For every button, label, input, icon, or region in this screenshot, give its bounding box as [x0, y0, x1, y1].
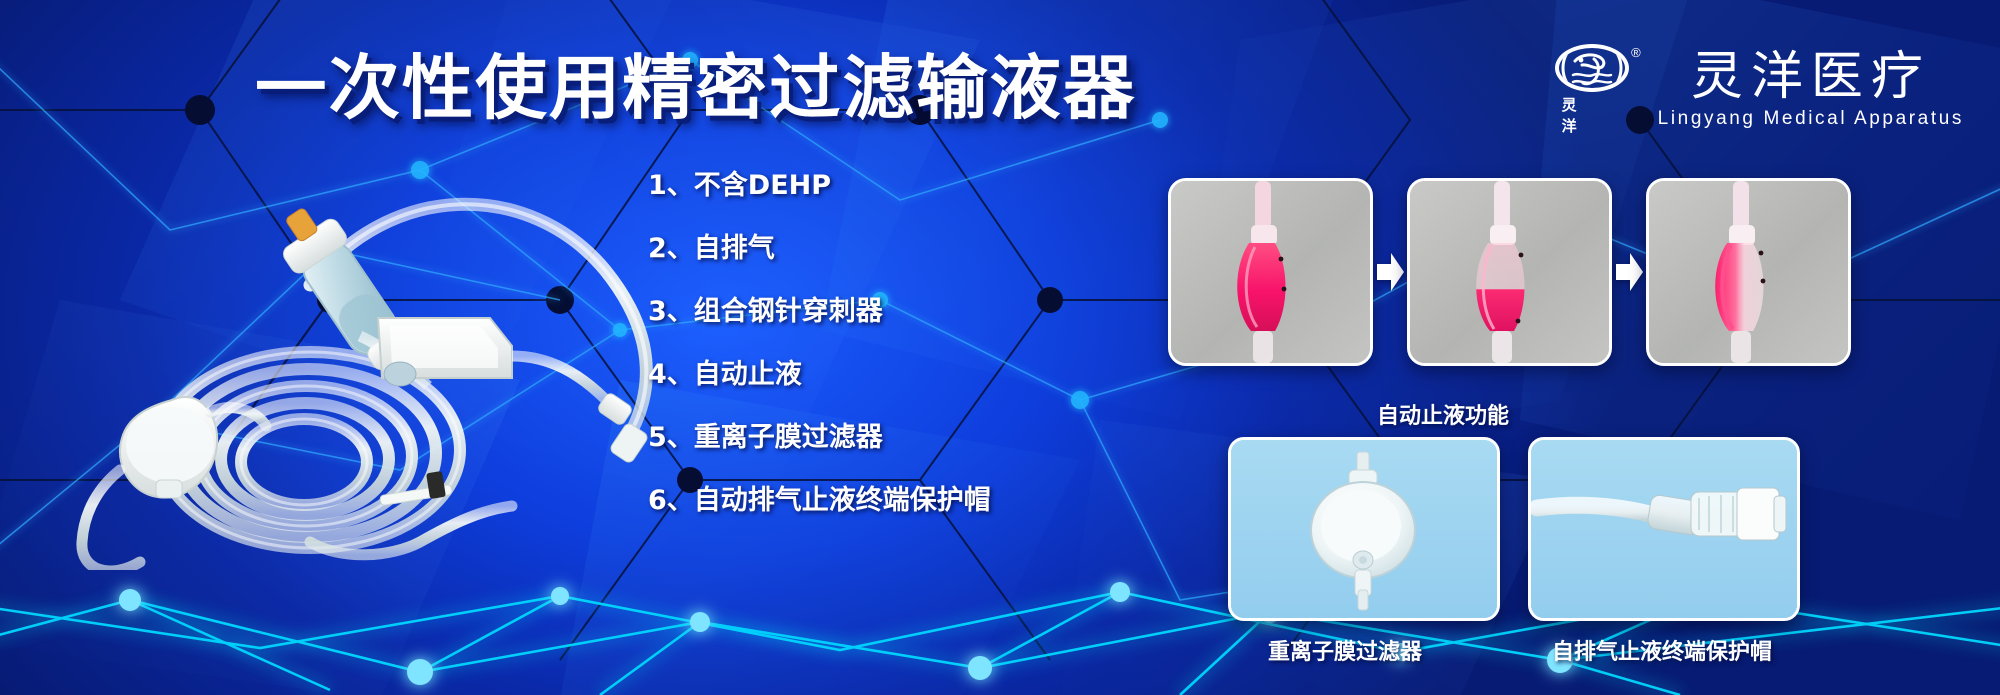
registered-trademark-icon: ®	[1631, 46, 1641, 59]
sequence-photo-3	[1646, 178, 1851, 366]
company-name-en: Lingyang Medical Apparatus	[1658, 107, 1964, 131]
sequence-caption: 自动止液功能	[1377, 398, 1509, 430]
auto-stop-sequence	[1168, 178, 1851, 366]
list-item: 3、组合钢针穿刺器	[648, 296, 978, 328]
page-title: 一次性使用精密过滤输液器	[255, 48, 1336, 128]
product-photo	[60, 150, 680, 570]
sequence-photo-1	[1168, 178, 1373, 366]
feature-list: 1、不含DEHP 2、自排气 3、组合钢针穿刺器 4、自动止液 5、重离子膜过滤…	[648, 170, 978, 517]
company-name-cn: 灵洋医疗	[1691, 49, 1931, 105]
detail-caption-filter: 重离子膜过滤器	[1268, 634, 1422, 666]
lingyang-seal-icon	[1555, 44, 1629, 92]
detail-photo-row	[1228, 437, 1800, 621]
list-item: 4、自动止液	[648, 359, 978, 391]
sequence-photo-2	[1407, 178, 1612, 366]
brand-logo: ® 灵 洋 灵洋医疗 Lingyang Medical Apparatus	[1546, 44, 1964, 136]
list-item: 2、自排气	[648, 233, 978, 265]
detail-photo-cap	[1528, 437, 1800, 621]
logo-mark-subtext: 灵 洋	[1546, 94, 1638, 136]
list-item: 6、自动排气止液终端保护帽	[648, 485, 978, 517]
banner-title-wrap: 一次性使用精密过滤输液器	[255, 48, 1315, 132]
product-banner: 一次性使用精密过滤输液器 ® 灵 洋 灵洋医疗 Lingyang Medical…	[0, 0, 2000, 695]
sequence-arrow-1	[1373, 251, 1407, 293]
logo-mark: ® 灵 洋	[1546, 44, 1638, 136]
list-item: 5、重离子膜过滤器	[648, 422, 978, 454]
logo-wordmark: 灵洋医疗 Lingyang Medical Apparatus	[1658, 49, 1964, 131]
sequence-arrow-2	[1612, 251, 1646, 293]
detail-caption-cap: 自排气止液终端保护帽	[1552, 634, 1772, 666]
detail-photo-filter	[1228, 437, 1500, 621]
list-item: 1、不含DEHP	[648, 170, 978, 202]
